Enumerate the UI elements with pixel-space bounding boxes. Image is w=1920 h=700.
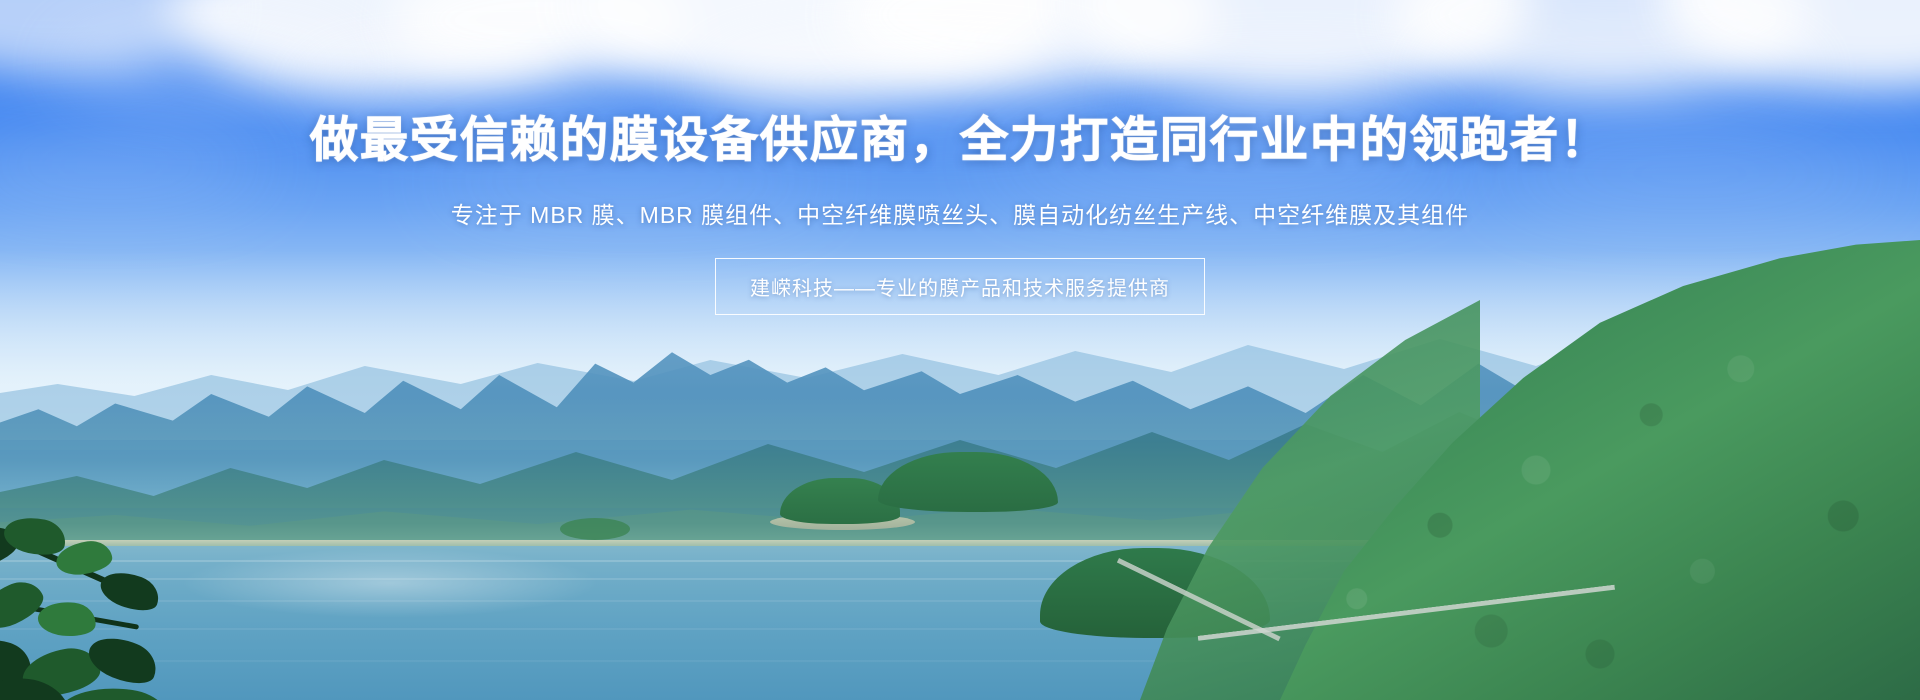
banner-headline: 做最受信赖的膜设备供应商，全力打造同行业中的领跑者！ — [310, 100, 1610, 170]
foreground-foliage — [0, 490, 220, 700]
leaf-shape — [96, 565, 164, 617]
small-island — [560, 518, 630, 540]
leaf-shape — [36, 599, 97, 639]
water-glare — [180, 548, 600, 618]
banner-tagline-box: 建嵘科技——专业的膜产品和技术服务提供商 — [715, 258, 1205, 315]
cloud-wisp — [1420, 36, 1820, 108]
leaf-shape — [83, 628, 163, 691]
banner-tagline: 建嵘科技——专业的膜产品和技术服务提供商 — [750, 272, 1170, 301]
hero-banner: 做最受信赖的膜设备供应商，全力打造同行业中的领跑者！ 专注于 MBR 膜、MBR… — [0, 0, 1920, 700]
banner-subtitle: 专注于 MBR 膜、MBR 膜组件、中空纤维膜喷丝头、膜自动化纺丝生产线、中空纤… — [451, 196, 1469, 230]
